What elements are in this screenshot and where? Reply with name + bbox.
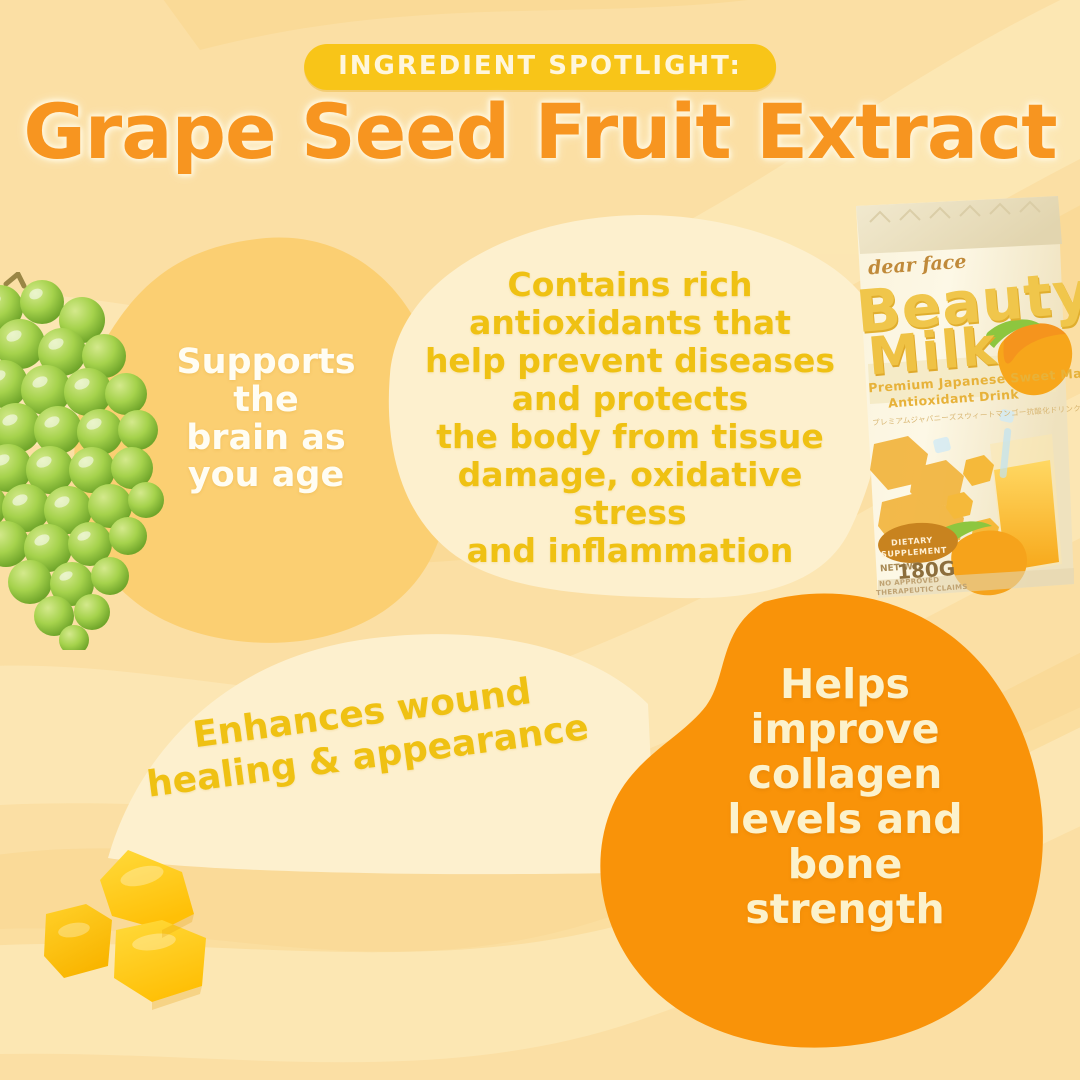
benefit-text-brain: Supports the brain as you age — [132, 344, 400, 495]
ingredient-spotlight-poster: dear face Beauty Milk Premium Japanese S… — [0, 0, 1080, 1080]
benefit-line: you age — [132, 457, 400, 495]
benefit-line: damage, oxidative stress — [410, 456, 850, 532]
benefit-line: levels and — [718, 797, 972, 842]
benefit-line: brain as — [132, 420, 400, 458]
benefit-line: antioxidants that — [410, 304, 850, 342]
benefit-line: and inflammation — [410, 532, 850, 570]
benefit-line: and protects — [410, 380, 850, 418]
benefit-line: the body from tissue — [410, 418, 850, 456]
benefit-line: the — [132, 382, 400, 420]
benefit-line: Contains rich — [410, 266, 850, 304]
badge-label: INGREDIENT SPOTLIGHT: — [338, 53, 742, 79]
benefit-line: strength — [718, 887, 972, 932]
page-title-text: Grape Seed Fruit Extract — [23, 87, 1056, 176]
benefit-text-collagen: Helps improve collagen levels and bone s… — [718, 662, 972, 933]
mango-cubes-image — [42, 838, 257, 1028]
page-title: Grape Seed Fruit Extract — [0, 94, 1080, 170]
benefit-line: Helps — [718, 662, 972, 707]
benefit-text-antioxidants: Contains rich antioxidants that help pre… — [410, 266, 850, 570]
ingredient-spotlight-badge: INGREDIENT SPOTLIGHT: — [304, 44, 776, 90]
benefit-line: help prevent diseases — [410, 342, 850, 380]
benefit-line: collagen — [718, 752, 972, 797]
benefit-line: improve — [718, 707, 972, 752]
benefit-line: bone — [718, 842, 972, 887]
benefit-line: Supports — [132, 344, 400, 382]
